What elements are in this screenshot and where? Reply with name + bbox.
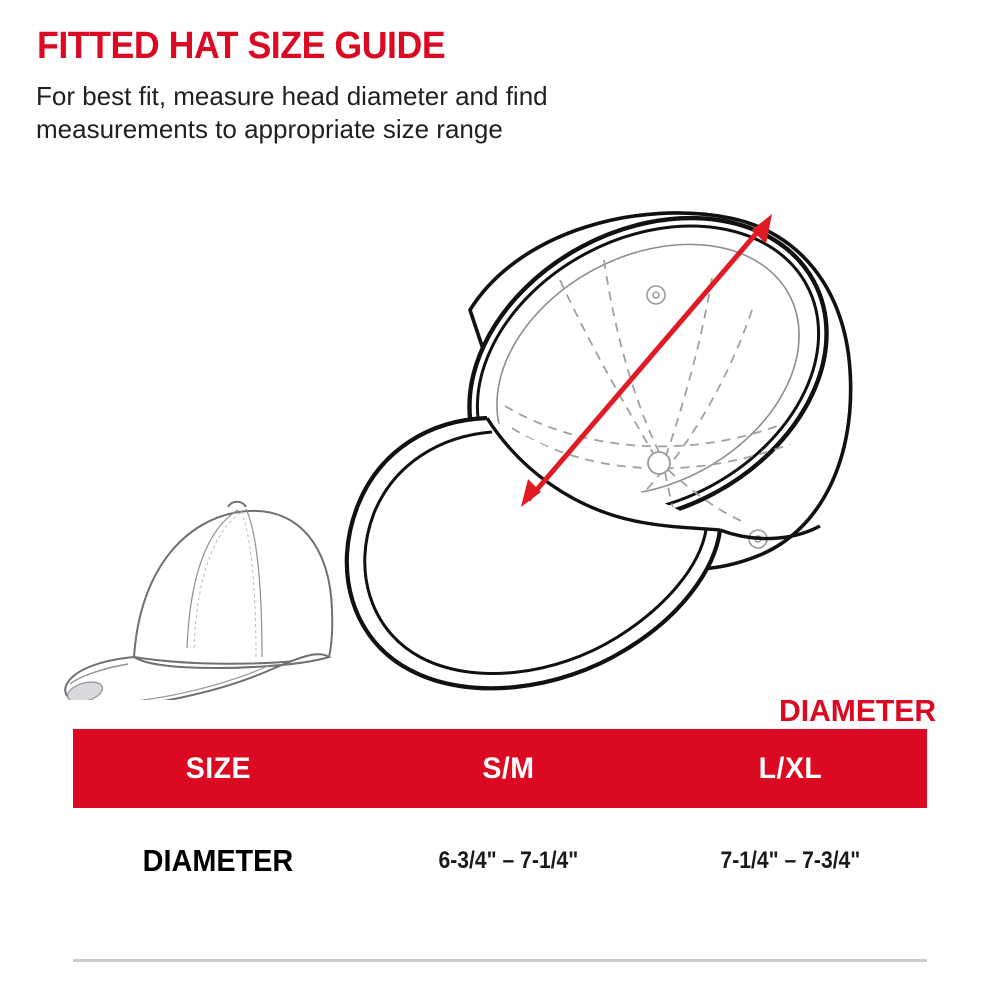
subtitle-line-1: For best fit, measure head diameter and … — [36, 80, 696, 113]
milwaukee-cap-side-view: Milwaukee — [65, 502, 332, 700]
hat-interior-view — [347, 170, 880, 688]
table-header-lxl-label: L/XL — [758, 752, 822, 786]
table-cell-diameter-lxl-text: 7-1/4" – 7-3/4" — [720, 847, 860, 875]
table-bottom-divider — [73, 959, 927, 962]
table-header-size-label: SIZE — [185, 752, 250, 786]
subtitle-line-2: measurements to appropriate size range — [36, 113, 696, 146]
table-row-label-diameter: DIAMETER — [73, 808, 363, 913]
table-header-row: SIZE S/M L/XL — [73, 729, 927, 808]
hat-illustration-svg: Milwaukee — [0, 170, 1000, 700]
table-header-lxl: L/XL — [653, 729, 927, 808]
table-cell-diameter-sm-text: 6-3/4" – 7-1/4" — [438, 847, 578, 875]
hat-illustration: Milwaukee DIAMETER — [0, 170, 1000, 700]
page-subtitle: For best fit, measure head diameter and … — [36, 80, 696, 146]
size-guide-page: FITTED HAT SIZE GUIDE For best fit, meas… — [0, 0, 1000, 1000]
crown-center-button — [648, 452, 670, 474]
page-title: FITTED HAT SIZE GUIDE — [37, 27, 445, 65]
table-row-label-text: DIAMETER — [143, 843, 294, 879]
table-cell-diameter-lxl: 7-1/4" – 7-3/4" — [653, 808, 927, 913]
diameter-callout-label: DIAMETER — [779, 695, 936, 726]
table-cell-diameter-sm: 6-3/4" – 7-1/4" — [363, 808, 653, 913]
table-header-sm: S/M — [363, 729, 653, 808]
table-header-size: SIZE — [73, 729, 363, 808]
cap-crown — [134, 511, 332, 664]
size-table: SIZE S/M L/XL DIAMETER 6-3/4" – 7-1/4" 7… — [73, 729, 927, 913]
table-header-sm-label: S/M — [482, 752, 534, 786]
cap-top-button — [228, 502, 246, 507]
table-row: DIAMETER 6-3/4" – 7-1/4" 7-1/4" – 7-3/4" — [73, 808, 927, 913]
